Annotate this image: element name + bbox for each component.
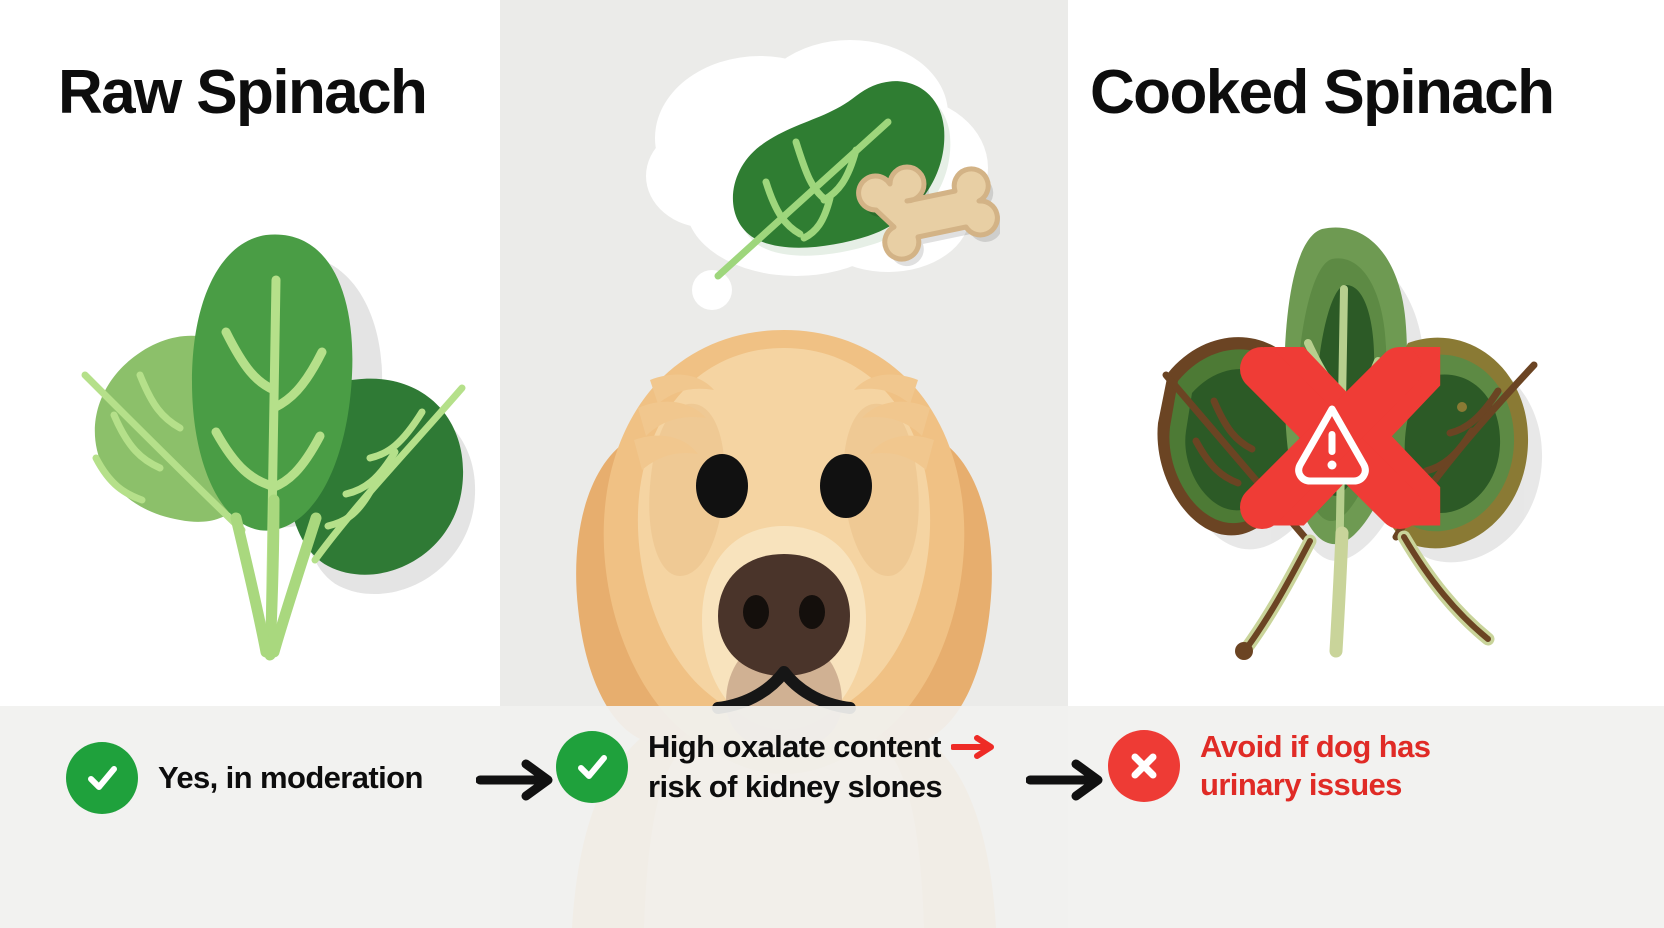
summary-item-moderation: Yes, in moderation (66, 742, 423, 814)
page-title-raw-spinach: Raw Spinach (58, 62, 426, 124)
check-circle-icon (66, 742, 138, 814)
cooked-spinach-illustration (1110, 215, 1550, 675)
page-title-cooked-spinach: Cooked Spinach (1090, 62, 1553, 124)
infographic-canvas: Raw Spinach Cooked Spinach Yes, in moder… (0, 0, 1664, 928)
summary-line: High oxalate content (648, 728, 995, 768)
summary-line: risk of kidney slones (648, 768, 995, 806)
summary-text-moderation: Yes, in moderation (158, 759, 423, 797)
x-circle-icon (1108, 730, 1180, 802)
thought-bubble (600, 28, 1000, 328)
raw-spinach-illustration (30, 200, 480, 670)
summary-text-oxalate: High oxalate content risk of kidney slon… (648, 728, 995, 806)
summary-line: Yes, in moderation (158, 759, 423, 797)
black-arrow-right-icon (476, 758, 556, 807)
red-arrow-right-icon (951, 730, 995, 768)
summary-line: urinary issues (1200, 766, 1430, 804)
summary-line-text: High oxalate content (648, 729, 941, 764)
summary-item-avoid: Avoid if dog has urinary issues (1108, 728, 1430, 804)
check-circle-icon (556, 731, 628, 803)
summary-text-avoid: Avoid if dog has urinary issues (1200, 728, 1430, 804)
summary-item-oxalate: High oxalate content risk of kidney slon… (556, 728, 995, 806)
black-arrow-right-icon (1026, 758, 1106, 807)
summary-line: Avoid if dog has (1200, 728, 1430, 766)
